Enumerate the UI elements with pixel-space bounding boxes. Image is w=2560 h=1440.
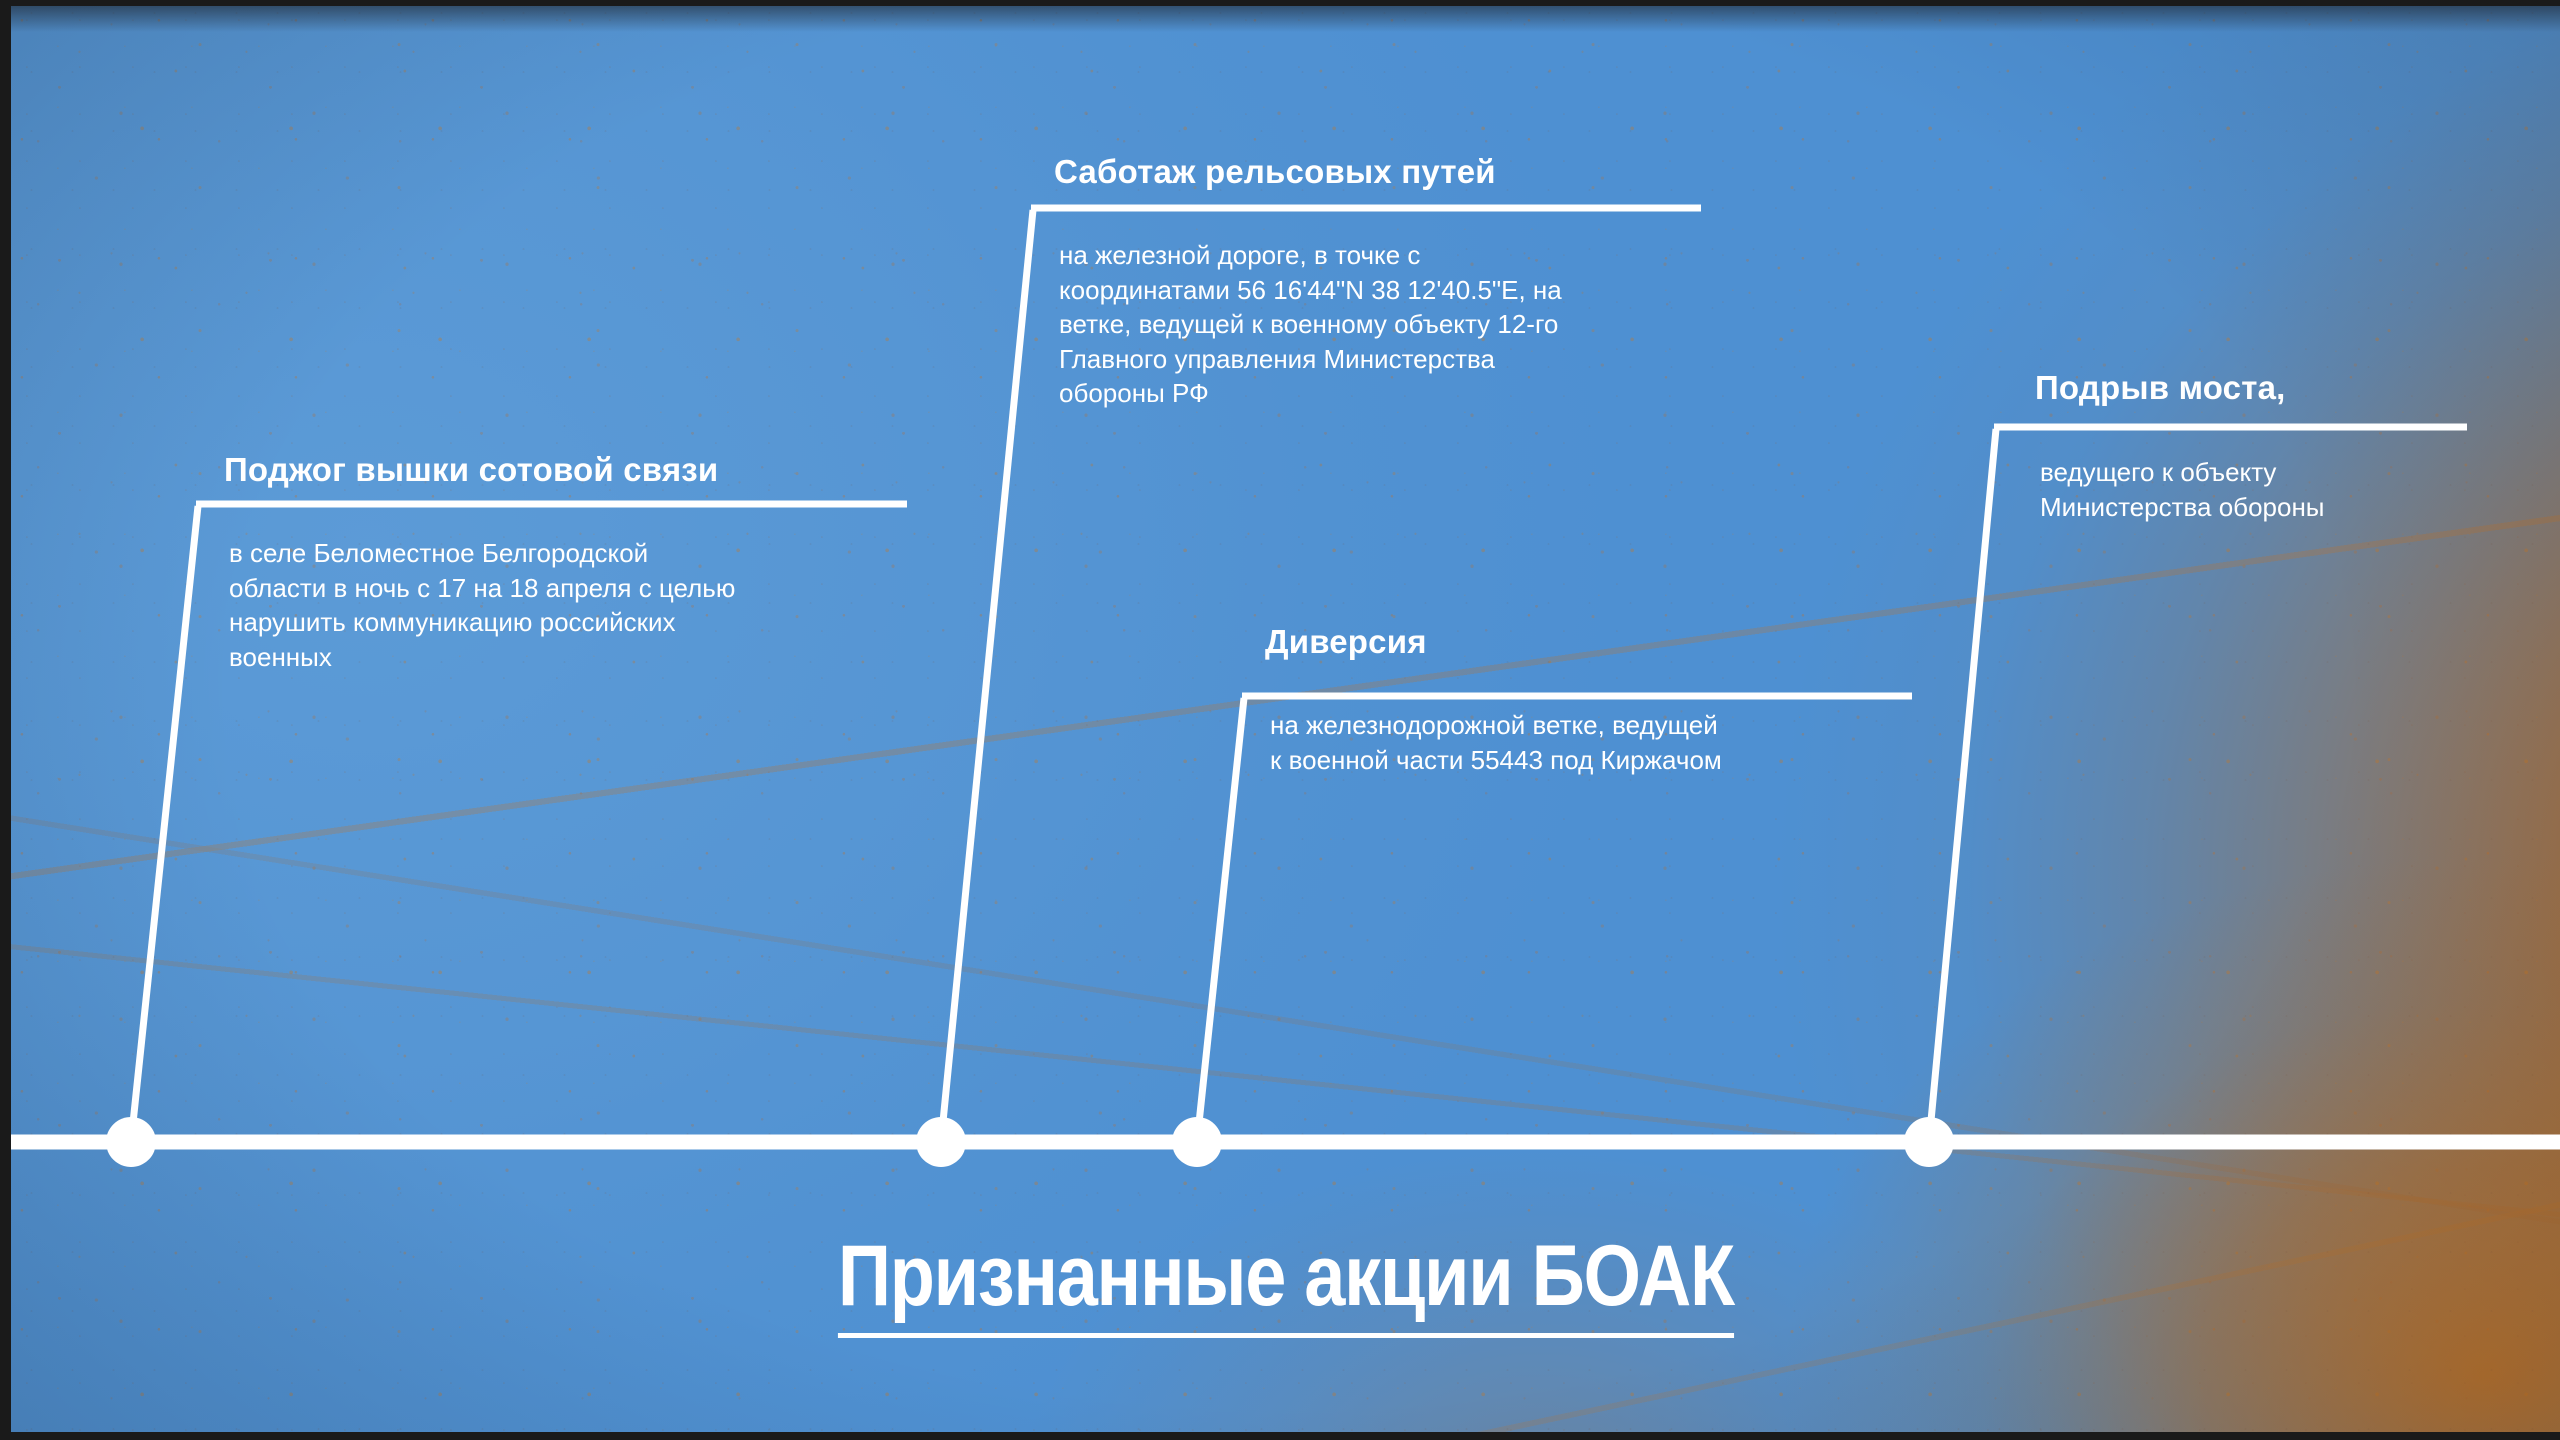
callout-2-body-line-4: Главного управления Министерства	[1059, 342, 1759, 377]
callout-3-heading: Диверсия	[1265, 623, 1970, 662]
infographic-stage: Поджог вышки сотовой связи в селе Беломе…	[0, 0, 2560, 1440]
timeline-marker-2[interactable]	[916, 1117, 966, 1167]
callout-4-heading: Подрыв моста,	[2035, 369, 2560, 408]
callout-3-body-line-2: к военной части 55443 под Киржачом	[1270, 743, 1970, 778]
callout-2-body-line-3: ветке, ведущей к военному объекту 12-го	[1059, 307, 1759, 342]
callout-2-heading: Саботаж рельсовых путей	[1054, 153, 1759, 192]
callout-4-body: ведущего к объекту Министерства обороны	[2040, 455, 2560, 524]
callout-block-2: Саботаж рельсовых путей на железной доро…	[1059, 153, 1759, 411]
callout-4-body-line-1: ведущего к объекту	[2040, 455, 2560, 490]
callout-1-body-line-2: области в ночь с 17 на 18 апреля с целью	[229, 571, 949, 606]
callout-block-4: Подрыв моста, ведущего к объекту Министе…	[2040, 369, 2560, 524]
callout-1-body-line-3: нарушить коммуникацию российских	[229, 605, 949, 640]
callout-4-body-line-2: Министерства обороны	[2040, 490, 2560, 525]
timeline-marker-3[interactable]	[1172, 1117, 1222, 1167]
callout-block-3: Диверсия на железнодорожной ветке, ведущ…	[1270, 623, 1970, 777]
callout-1-body-line-1: в селе Беломестное Белгородской	[229, 536, 949, 571]
leader-line-3	[1197, 698, 1244, 1142]
timeline-marker-1[interactable]	[106, 1117, 156, 1167]
callout-1-body-line-4: военных	[229, 640, 949, 675]
callout-block-1: Поджог вышки сотовой связи в селе Беломе…	[229, 451, 949, 674]
leader-line-2	[941, 210, 1033, 1142]
leader-line-4	[1929, 429, 1996, 1142]
callout-2-body: на железной дороге, в точке с координата…	[1059, 238, 1759, 411]
callout-3-body-line-1: на железнодорожной ветке, ведущей	[1270, 708, 1970, 743]
callout-1-heading: Поджог вышки сотовой связи	[224, 451, 949, 490]
timeline-marker-4[interactable]	[1904, 1117, 1954, 1167]
leader-line-1	[131, 506, 198, 1142]
callout-2-body-line-1: на железной дороге, в точке с	[1059, 238, 1759, 273]
callout-3-body: на железнодорожной ветке, ведущей к воен…	[1270, 708, 1970, 777]
photo-canvas: Поджог вышки сотовой связи в селе Беломе…	[11, 6, 2560, 1432]
callout-2-body-line-5: обороны РФ	[1059, 376, 1759, 411]
callout-2-body-line-2: координатами 56 16'44"N 38 12'40.5"E, на	[1059, 273, 1759, 308]
callout-1-body: в селе Беломестное Белгородской области …	[229, 536, 949, 674]
